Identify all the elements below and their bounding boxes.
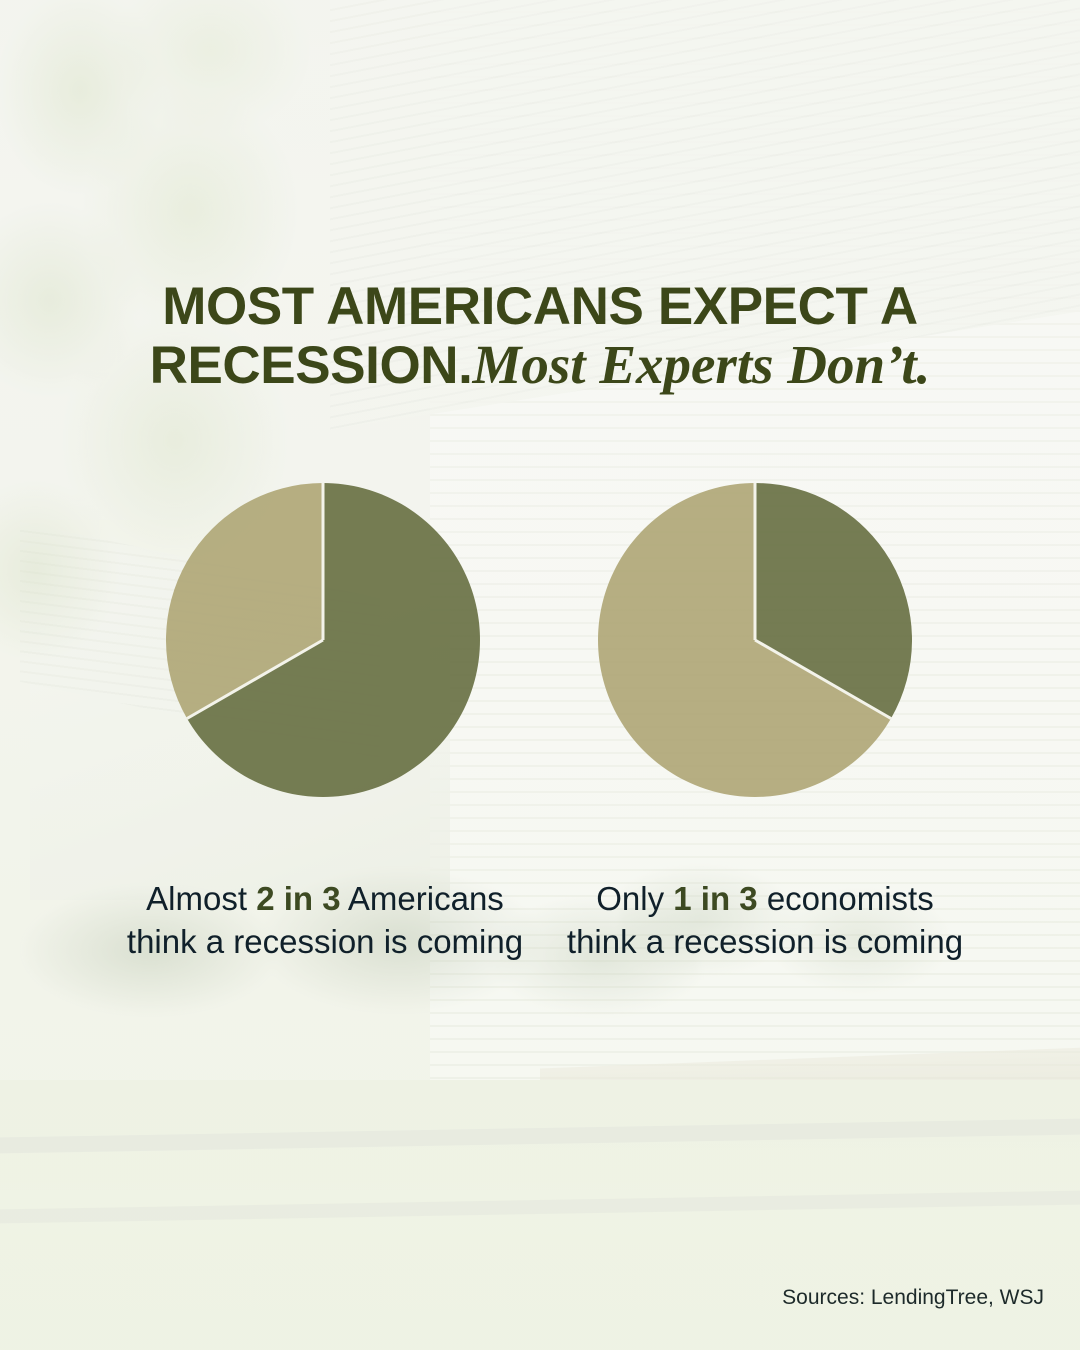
background-photo	[0, 0, 1080, 1350]
caption-americans-lead: Almost	[146, 880, 256, 917]
sources-note: Sources: LendingTree, WSJ	[782, 1286, 1044, 1310]
background-white-overlay	[0, 0, 1080, 1350]
headline-line-1: MOST AMERICANS EXPECT A	[60, 278, 1020, 335]
caption-economists-lead: Only	[596, 880, 673, 917]
caption-americans: Almost 2 in 3 Americans think a recessio…	[120, 878, 530, 964]
headline-italic-2: Most Experts Don’t.	[473, 334, 931, 395]
infographic-canvas: MOST AMERICANS EXPECT A RECESSION.Most E…	[0, 0, 1080, 1350]
headline-line-2: RECESSION.Most Experts Don’t.	[60, 335, 1020, 394]
headline-caps-1: MOST AMERICANS EXPECT A	[162, 277, 917, 336]
caption-economists-accent: 1 in 3	[673, 880, 757, 917]
caption-economists: Only 1 in 3 economists think a recession…	[560, 878, 970, 964]
headline-caps-2: RECESSION.	[150, 336, 473, 395]
caption-americans-accent: 2 in 3	[256, 880, 340, 917]
headline: MOST AMERICANS EXPECT A RECESSION.Most E…	[60, 278, 1020, 395]
